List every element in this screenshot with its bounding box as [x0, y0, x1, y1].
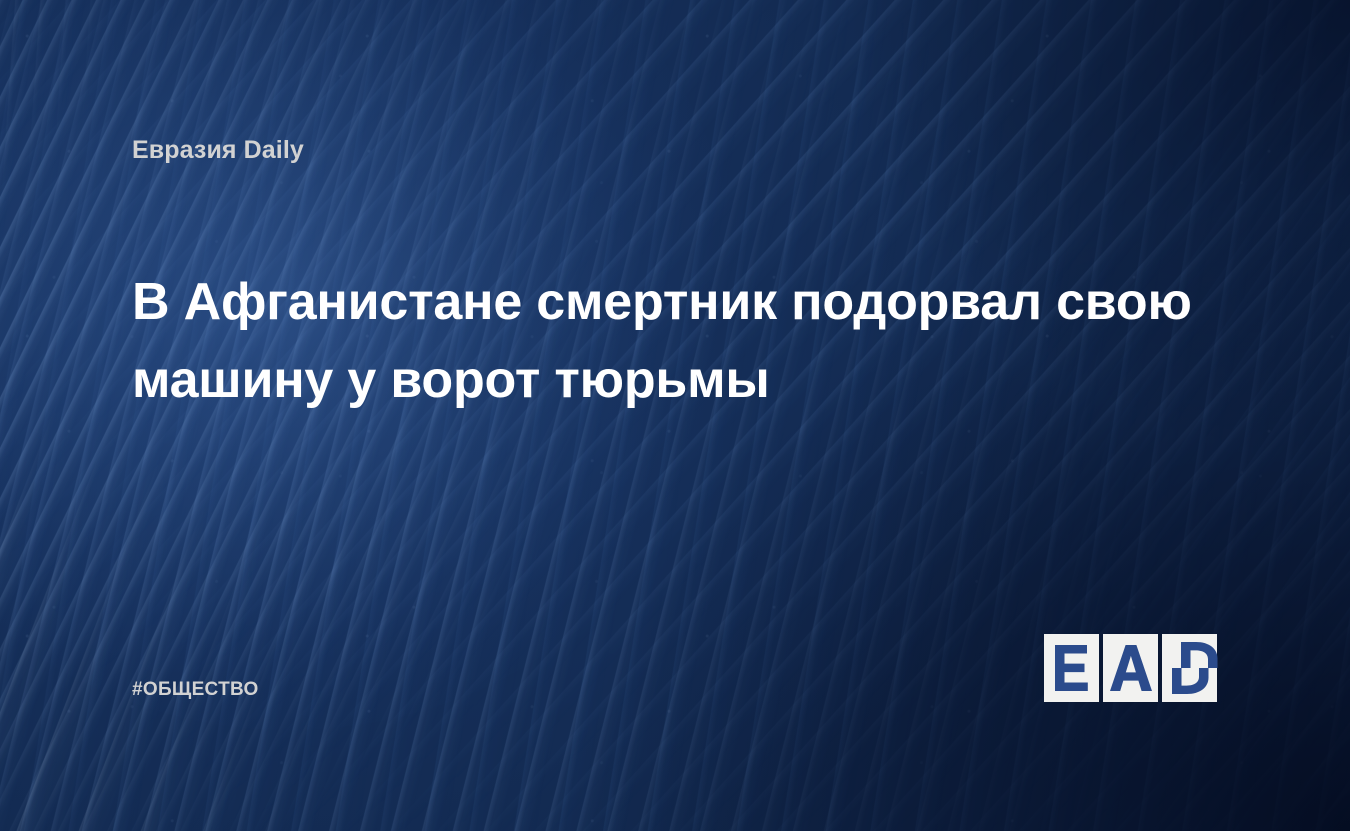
logo-letter-a-icon: [1110, 645, 1152, 691]
logo-tile-d: [1162, 634, 1217, 702]
card-content: Евразия Daily В Афганистане смертник под…: [0, 0, 1350, 831]
logo-letter-e-icon: [1055, 645, 1089, 691]
logo-tile-e: [1044, 634, 1099, 702]
logo-letter-d-icon: [1162, 634, 1226, 702]
news-share-card: Евразия Daily В Афганистане смертник под…: [0, 0, 1350, 831]
logo-tile-a: [1103, 634, 1158, 702]
ead-logo[interactable]: [1044, 634, 1220, 702]
site-name: Евразия Daily: [132, 136, 304, 165]
category-tag[interactable]: #ОБЩЕСТВО: [132, 679, 259, 701]
headline: В Афганистане смертник подорвал свою маш…: [132, 263, 1242, 419]
